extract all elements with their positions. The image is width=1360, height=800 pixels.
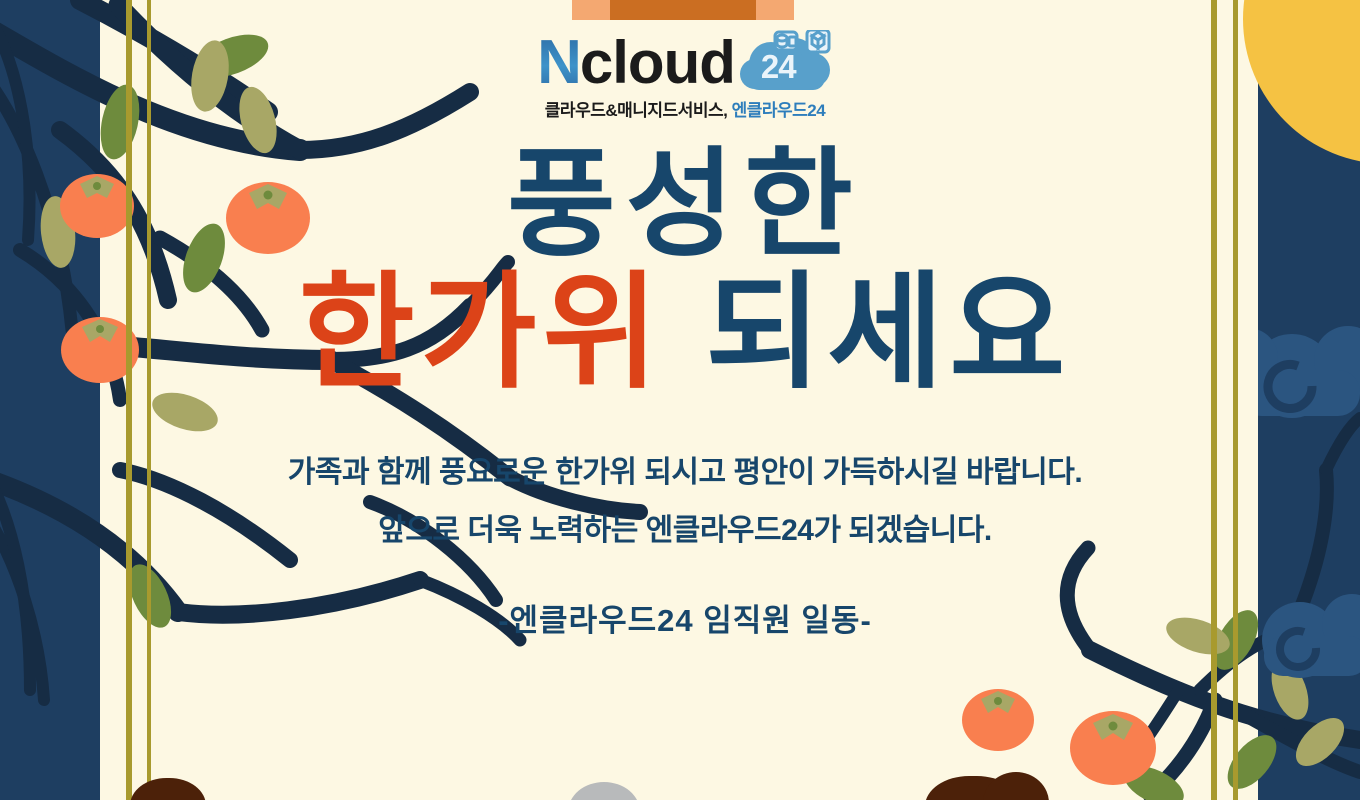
headline-line-2: 한가위 되세요 <box>299 269 1072 398</box>
body-line-2: 앞으로 더욱 노력하는 엔클라우드24가 되겠습니다. <box>288 502 1082 561</box>
headline-hangawi: 한가위 <box>299 262 665 403</box>
logo-tagline: 클라우드&매니지드서비스, 엔클라우드24 <box>545 96 825 121</box>
logo-badge-24: 24 <box>761 48 796 86</box>
card-content: N cloud <box>160 0 1210 800</box>
logo-tagline-brand: 엔클라우드24 <box>732 101 826 120</box>
body-line-1: 가족과 함께 풍요로운 한가위 되시고 평안이 가득하시길 바랍니다. <box>288 444 1082 503</box>
logo-wordmark: N cloud <box>537 30 833 92</box>
ncloud24-logo: N cloud <box>537 30 833 121</box>
logo-letter-n: N <box>537 34 580 92</box>
chuseok-greeting-card: N cloud <box>0 0 1360 800</box>
left-navy-panel <box>0 0 100 800</box>
signature-line: -엔클라우드24 임직원 일동- <box>498 595 872 640</box>
logo-cloud-badge: 24 <box>737 30 833 92</box>
gold-rule-right-outer <box>1211 0 1217 800</box>
gold-rule-right-inner <box>1233 0 1238 800</box>
logo-tagline-main: 클라우드&매니지드서비스, <box>545 101 728 120</box>
gold-rule-left-inner <box>126 0 132 800</box>
body-copy: 가족과 함께 풍요로운 한가위 되시고 평안이 가득하시길 바랍니다. 앞으로 … <box>288 444 1082 561</box>
headline-line-1: 풍성한 <box>507 145 863 265</box>
logo-text-cloud: cloud <box>580 34 735 92</box>
gold-rule-left-outer <box>147 0 151 800</box>
headline-doeseyo: 되세요 <box>706 262 1072 403</box>
box-icon <box>807 30 829 52</box>
